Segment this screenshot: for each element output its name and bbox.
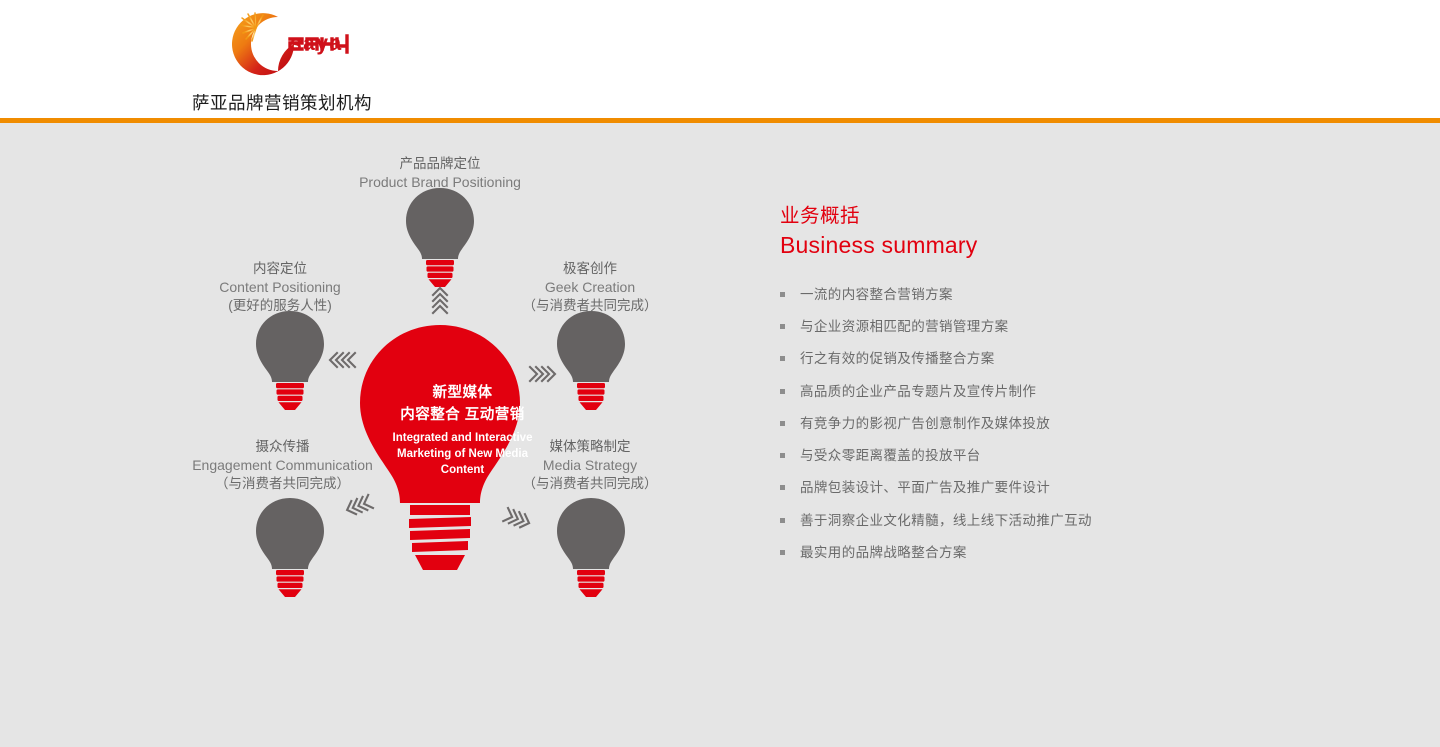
header-navigation: 营销 xyxy=(970,0,1440,118)
node-label-media-strategy: 媒体策略制定 Media Strategy （与消费者共同完成） xyxy=(450,438,730,494)
node-cn: 媒体策略制定 xyxy=(450,438,730,456)
list-item: 与受众零距离覆盖的投放平台 xyxy=(780,447,1340,465)
node-sub: (更好的服务人性) xyxy=(145,297,415,315)
list-item: 品牌包装设计、平面广告及推广要件设计 xyxy=(780,479,1340,497)
node-en: Engagement Communication xyxy=(140,456,425,475)
node-label-geek-creation: 极客创作 Geek Creation （与消费者共同完成） xyxy=(450,260,730,316)
page-header: saya 萨亚品牌营销策划机构 营销 xyxy=(0,0,1440,118)
list-item: 有竞争力的影视广告创意制作及媒体投放 xyxy=(780,415,1340,433)
node-cn: 内容定位 xyxy=(145,260,415,278)
arrow-left xyxy=(330,353,355,367)
list-item: 善于洞察企业文化精髓，线上线下活动推广互动 xyxy=(780,512,1340,530)
arrow-up xyxy=(433,288,447,313)
square-bullet-icon xyxy=(780,550,785,555)
list-item-text: 一流的内容整合营销方案 xyxy=(800,287,953,302)
node-en: Geek Creation xyxy=(450,278,730,297)
node-en: Media Strategy xyxy=(450,456,730,475)
node-label-engagement-communication: 摄众传播 Engagement Communication （与消费者共同完成） xyxy=(140,438,425,494)
business-summary-panel: 业务概括 Business summary 一流的内容整合营销方案 与企业资源相… xyxy=(780,205,1340,576)
list-item-text: 与受众零距离覆盖的投放平台 xyxy=(800,448,981,463)
summary-title-cn: 业务概括 xyxy=(780,205,1340,228)
node-en: Product Brand Positioning xyxy=(295,173,585,192)
list-item-text: 行之有效的促销及传播整合方案 xyxy=(800,351,995,366)
list-item-text: 善于洞察企业文化精髓，线上线下活动推广互动 xyxy=(800,513,1092,528)
saya-logo: saya xyxy=(232,8,352,80)
list-item: 行之有效的促销及传播整合方案 xyxy=(780,350,1340,368)
square-bullet-icon xyxy=(780,485,785,490)
node-cn: 产品品牌定位 xyxy=(295,155,585,173)
square-bullet-icon xyxy=(780,324,785,329)
list-item: 一流的内容整合营销方案 xyxy=(780,286,1340,304)
square-bullet-icon xyxy=(780,453,785,458)
slide-body: 产品品牌定位 Product Brand Positioning 内容定位 Co… xyxy=(0,123,1440,747)
list-item: 与企业资源相匹配的营销管理方案 xyxy=(780,318,1340,336)
list-item-text: 最实用的品牌战略整合方案 xyxy=(800,545,967,560)
summary-bullet-list: 一流的内容整合营销方案 与企业资源相匹配的营销管理方案 行之有效的促销及传播整合… xyxy=(780,286,1340,562)
list-item-text: 高品质的企业产品专题片及宣传片制作 xyxy=(800,384,1036,399)
node-sub: （与消费者共同完成） xyxy=(140,475,425,493)
square-bullet-icon xyxy=(780,292,785,297)
list-item: 高品质的企业产品专题片及宣传片制作 xyxy=(780,383,1340,401)
bulb-bottom-left xyxy=(256,498,324,597)
bulb-diagram: 产品品牌定位 Product Brand Positioning 内容定位 Co… xyxy=(140,133,760,633)
list-item-text: 有竞争力的影视广告创意制作及媒体投放 xyxy=(800,416,1050,431)
list-item-text: 与企业资源相匹配的营销管理方案 xyxy=(800,319,1009,334)
node-label-content-positioning: 内容定位 Content Positioning (更好的服务人性) xyxy=(145,260,415,316)
list-item-text: 品牌包装设计、平面广告及推广要件设计 xyxy=(800,480,1050,495)
square-bullet-icon xyxy=(780,356,785,361)
bulb-left xyxy=(256,311,324,410)
arrow-down-right xyxy=(503,508,531,530)
square-bullet-icon xyxy=(780,421,785,426)
bulb-bottom-right xyxy=(557,498,625,597)
slide-root: saya 萨亚品牌营销策划机构 营销 xyxy=(0,0,1440,747)
node-cn: 摄众传播 xyxy=(140,438,425,456)
bulb-right xyxy=(557,311,625,410)
arrow-down-left xyxy=(345,495,373,517)
node-cn: 极客创作 xyxy=(450,260,730,278)
node-sub: （与消费者共同完成） xyxy=(450,297,730,315)
list-item: 最实用的品牌战略整合方案 xyxy=(780,544,1340,562)
node-en: Content Positioning xyxy=(145,278,415,297)
bulb-diagram-graphics xyxy=(140,133,760,633)
square-bullet-icon xyxy=(780,518,785,523)
brand-name: 萨亚品牌营销策划机构 xyxy=(192,90,442,115)
square-bullet-icon xyxy=(780,389,785,394)
brand-block: saya 萨亚品牌营销策划机构 xyxy=(192,8,442,114)
node-label-product-brand-positioning: 产品品牌定位 Product Brand Positioning xyxy=(295,155,585,192)
node-sub: （与消费者共同完成） xyxy=(450,475,730,493)
summary-title-en: Business summary xyxy=(780,232,1340,260)
svg-text:saya: saya xyxy=(290,32,343,55)
arrow-right xyxy=(530,367,555,381)
